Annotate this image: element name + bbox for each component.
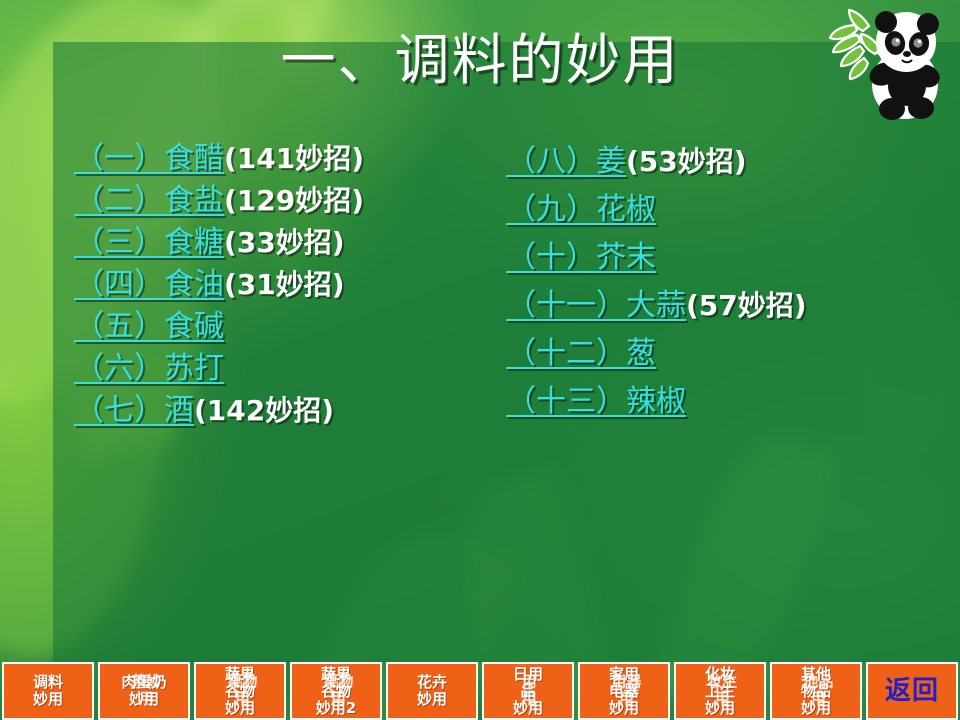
nav-button-2[interactable]: 茶妙 用肉蛋奶 妙用 (98, 662, 190, 720)
toc-hyperlink[interactable]: （十一）大蒜 (506, 288, 686, 323)
toc-hyperlink[interactable]: （十二）葱 (506, 336, 656, 371)
toc-hyperlink[interactable]: （十三）辣椒 (506, 384, 686, 419)
toc-link-row[interactable]: （十三）辣椒 (506, 378, 926, 426)
nav-button-10[interactable]: 返回 (866, 662, 958, 720)
toc-link-row[interactable]: （十二）葱 (506, 330, 926, 378)
slide-canvas: 一、调料的妙用 （一）食醋(141妙招)（二）食盐(129妙招)（三）食糖(33… (0, 0, 960, 720)
toc-tip-count: (33妙招) (224, 226, 345, 259)
nav-button-4[interactable]: 果物 用蔬果 谷物 妙用2 (290, 662, 382, 720)
toc-tip-count: (129妙招) (224, 184, 364, 217)
nav-button-5[interactable]: 花卉 妙用 (386, 662, 478, 720)
toc-hyperlink[interactable]: （五）食碱 (74, 309, 224, 344)
toc-hyperlink[interactable]: （七）酒 (74, 393, 194, 428)
toc-tip-count: (53妙招) (626, 145, 747, 178)
toc-hyperlink[interactable]: （二）食盐 (74, 183, 224, 218)
toc-link-row[interactable]: （五）食碱 (74, 306, 494, 348)
toc-link-row[interactable]: （四）食油(31妙招) (74, 264, 494, 306)
toc-tip-count: (142妙招) (194, 394, 334, 427)
toc-hyperlink[interactable]: （十）芥末 (506, 240, 656, 275)
page-title: 一、调料的妙用 (0, 28, 960, 92)
toc-link-row[interactable]: （七）酒(142妙招) (74, 390, 494, 432)
nav-button-label: 日用 品 妙用 (513, 666, 543, 717)
nav-button-label: 蔬果 谷物 妙用 (225, 666, 255, 717)
nav-button-label: 蔬果 谷物 妙用2 (316, 666, 356, 717)
right-link-column: （八）姜(53妙招)（九）花椒（十）芥末（十一）大蒜(57妙招)（十二）葱（十三… (506, 138, 926, 426)
nav-button-1[interactable]: 调料 妙用 (2, 662, 94, 720)
toc-link-row[interactable]: （二）食盐(129妙招) (74, 180, 494, 222)
nav-button-label: 化妆 卫生 妙用 (705, 666, 735, 717)
toc-hyperlink[interactable]: （六）苏打 (74, 351, 224, 386)
toc-hyperlink[interactable]: （八）姜 (506, 144, 626, 179)
nav-button-8[interactable]: 妆生 用化妆 卫生 妙用 (674, 662, 766, 720)
nav-button-6[interactable]: 用 用日用 品 妙用 (482, 662, 574, 720)
toc-link-row[interactable]: （八）姜(53妙招) (506, 138, 926, 186)
toc-tip-count: (31妙招) (224, 268, 345, 301)
toc-link-row[interactable]: （六）苏打 (74, 348, 494, 390)
toc-hyperlink[interactable]: （一）食醋 (74, 141, 224, 176)
toc-hyperlink[interactable]: （四）食油 (74, 267, 224, 302)
nav-button-label: 家用 电器 妙用 (609, 666, 639, 717)
toc-link-row[interactable]: （十一）大蒜(57妙招) (506, 282, 926, 330)
left-link-column: （一）食醋(141妙招)（二）食盐(129妙招)（三）食糖(33妙招)（四）食油… (74, 138, 494, 432)
toc-tip-count: (57妙招) (686, 289, 807, 322)
toc-link-row[interactable]: （九）花椒 (506, 186, 926, 234)
toc-tip-count: (141妙招) (224, 142, 364, 175)
nav-button-label: 肉蛋奶 妙用 (121, 674, 166, 708)
nav-button-7[interactable]: 用器 用家用 电器 妙用 (578, 662, 670, 720)
nav-button-9[interactable]: 他品 用其他 物品 妙用 (770, 662, 862, 720)
toc-link-row[interactable]: （三）食糖(33妙招) (74, 222, 494, 264)
nav-button-label: 返回 (885, 677, 939, 705)
toc-link-row[interactable]: （一）食醋(141妙招) (74, 138, 494, 180)
toc-link-row[interactable]: （十）芥末 (506, 234, 926, 282)
toc-hyperlink[interactable]: （九）花椒 (506, 192, 656, 227)
nav-button-3[interactable]: 果物 用蔬果 谷物 妙用 (194, 662, 286, 720)
bottom-nav-bar: 调料 妙用茶妙 用肉蛋奶 妙用果物 用蔬果 谷物 妙用果物 用蔬果 谷物 妙用2… (0, 654, 960, 720)
nav-button-label: 其他 物品 妙用 (801, 666, 831, 717)
nav-button-label: 花卉 妙用 (417, 674, 447, 708)
toc-hyperlink[interactable]: （三）食糖 (74, 225, 224, 260)
nav-button-label: 调料 妙用 (33, 674, 63, 708)
panda-icon (822, 2, 954, 124)
